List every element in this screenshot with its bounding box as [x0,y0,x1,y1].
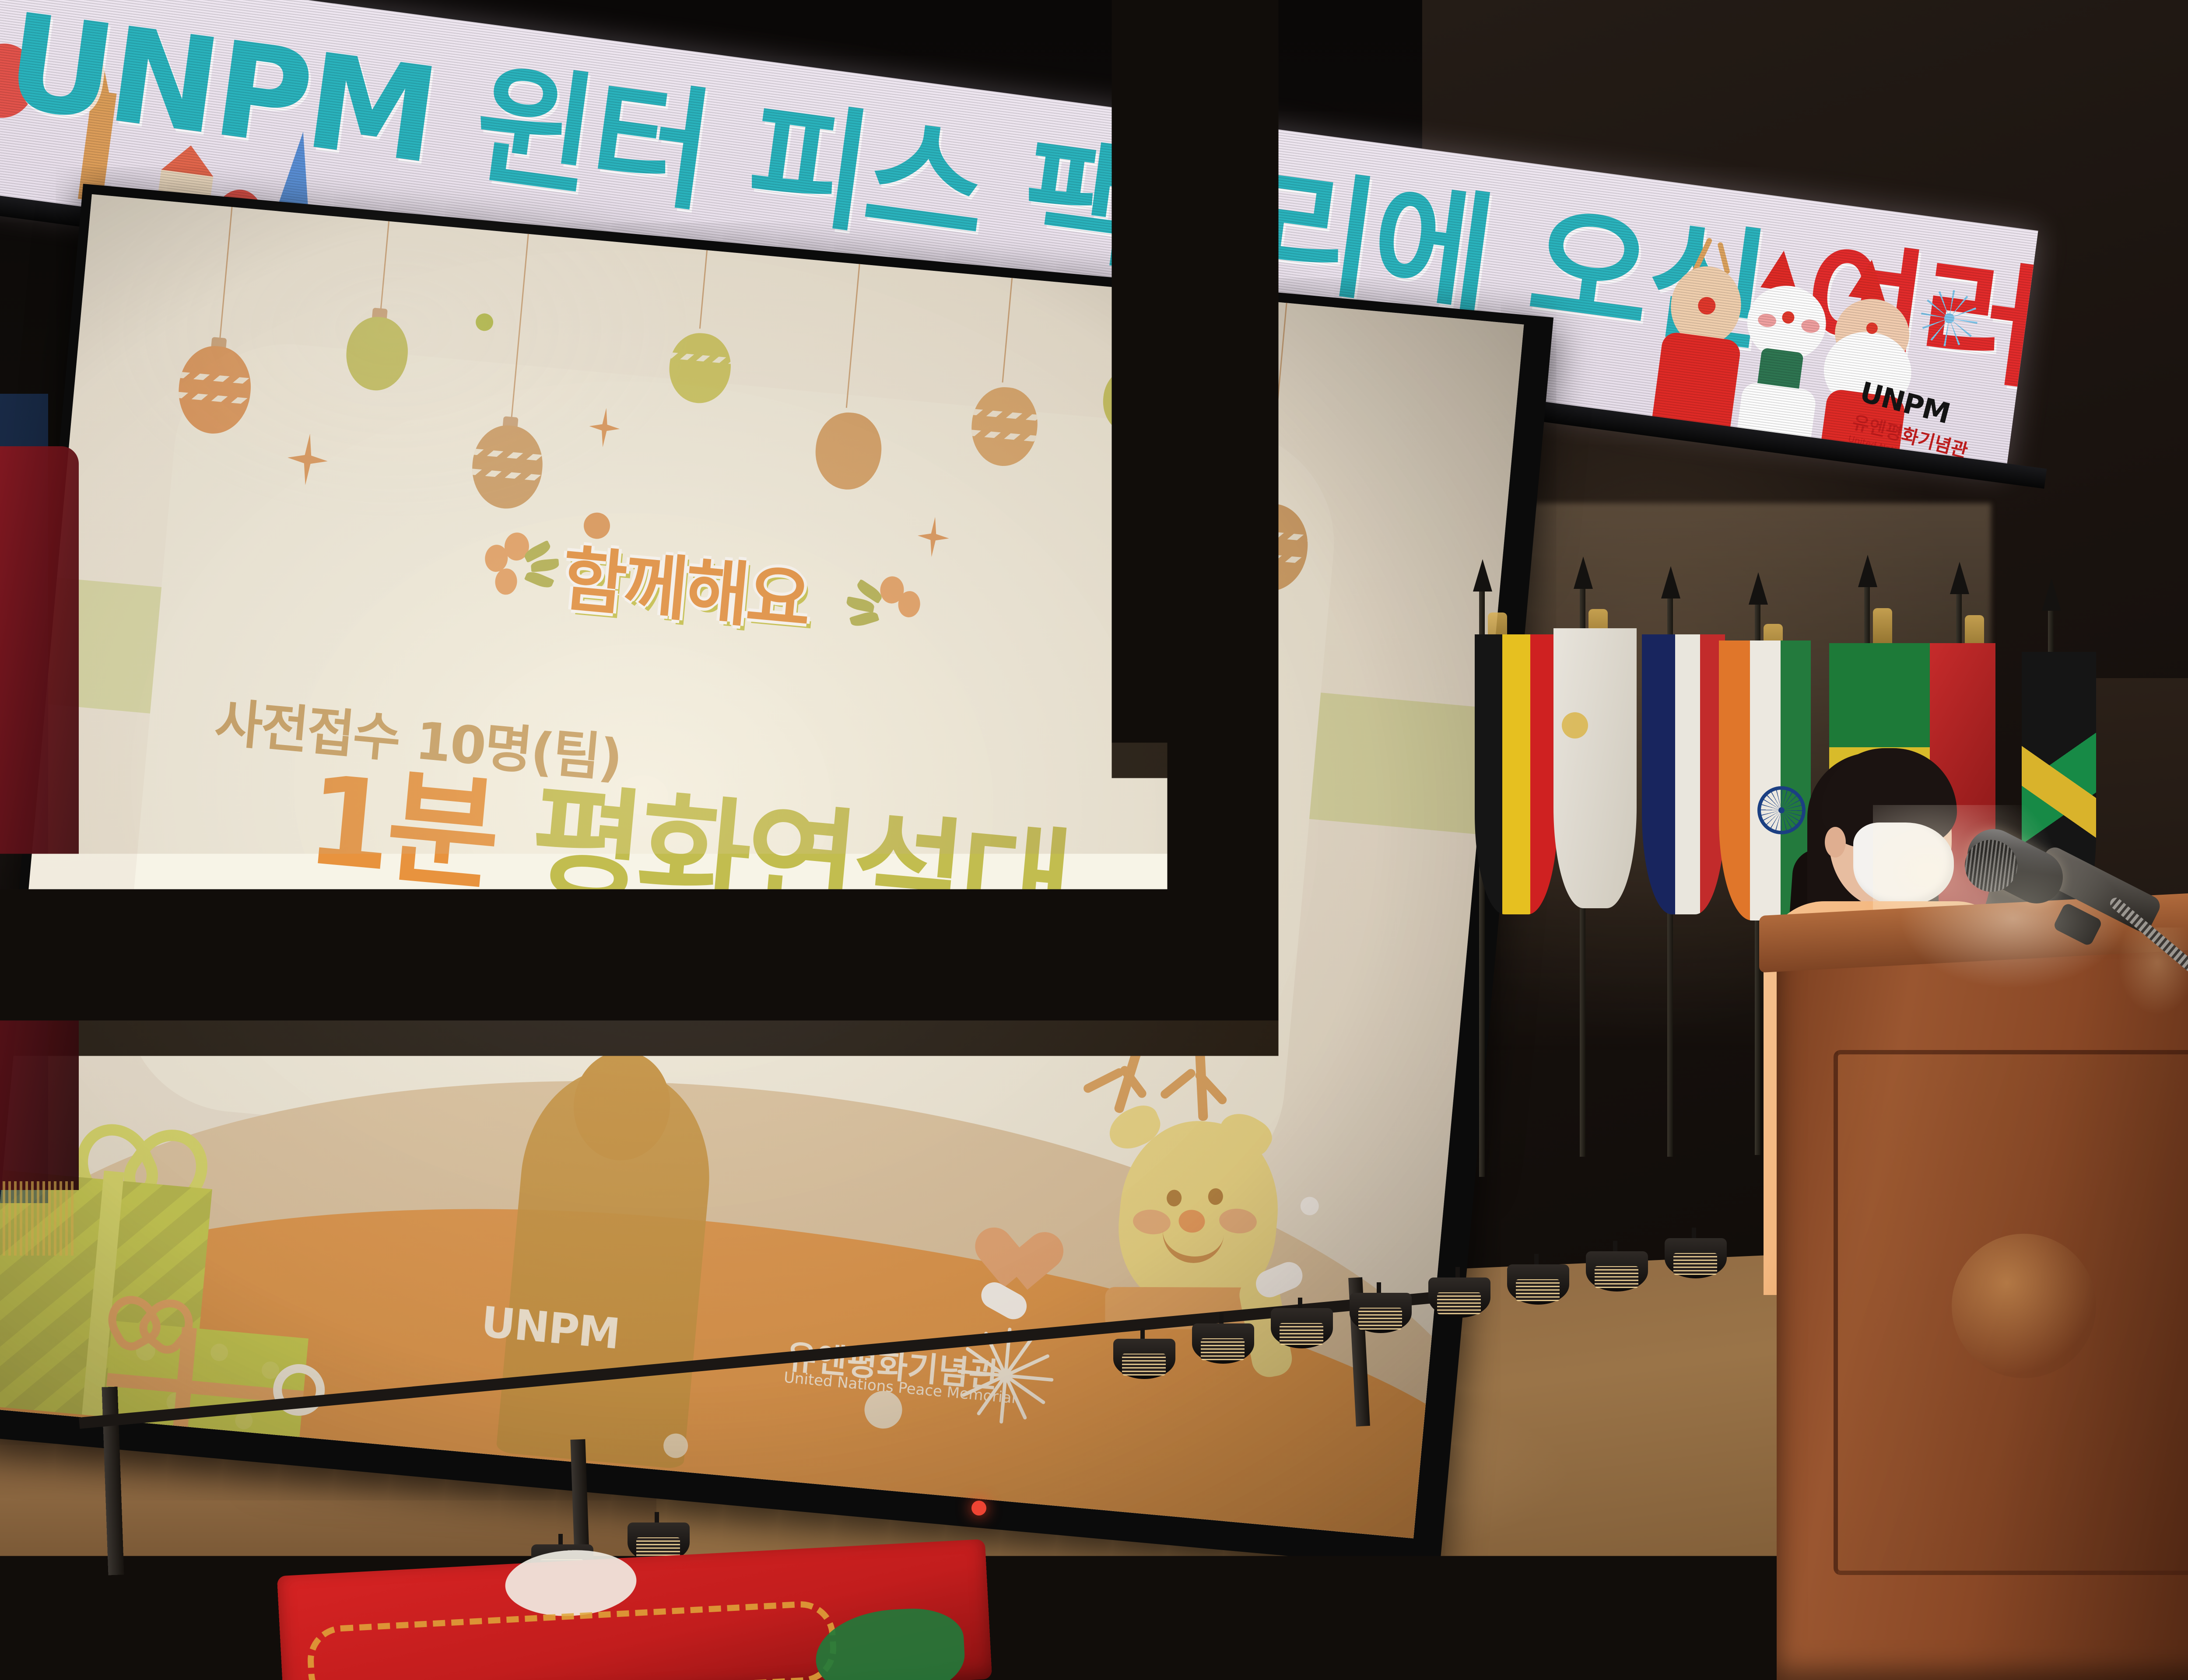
stage-footlight [1265,1308,1339,1361]
stage-footlight [1107,1339,1182,1391]
left-flag-fringe [0,1181,74,1256]
stage-marker-light [971,1501,986,1515]
stage-footlight [1186,1323,1260,1376]
title-number: 1분 [301,749,501,908]
stage-footlight [1580,1251,1654,1304]
podium-medallion [1952,1234,2096,1378]
laurel-right-icon [834,570,927,643]
ear [1825,827,1846,857]
stage-footlight [1659,1238,1733,1291]
flag-belgium [1475,634,1558,914]
cloth-green-motif [813,1606,967,1680]
left-edge-red-flag [0,446,79,1190]
auditorium-scene: UNPM 윈터 피스 팩토리에 오신 여러분 환영합니다! [0,0,2188,1680]
flag-philippines [1553,628,1637,908]
stage-footlight [1343,1293,1418,1345]
flag-france [1642,634,1725,914]
stage-footlight [1501,1264,1575,1317]
stage-footlight [1422,1277,1497,1330]
laurel-left-icon [477,528,571,602]
